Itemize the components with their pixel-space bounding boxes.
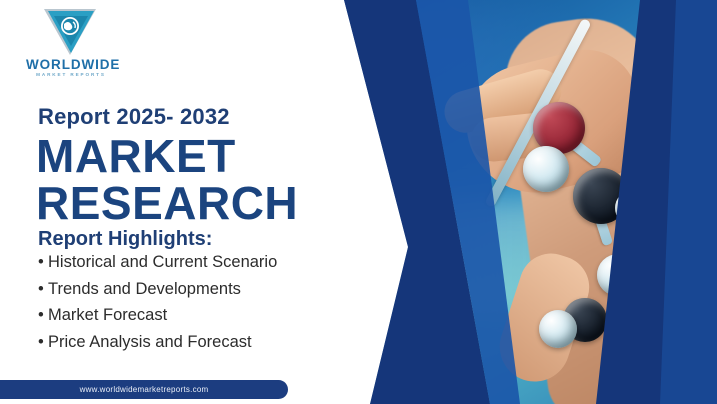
molecule-atom-pale (539, 310, 577, 348)
molecule-atom-pale (663, 230, 697, 264)
molecule-atom-pale (615, 190, 651, 226)
list-item-label: Price Analysis and Forecast (48, 333, 252, 351)
bullet-dot-icon: • (38, 281, 48, 298)
page-title-line-2: RESEARCH (36, 180, 298, 226)
globe-shield-icon (40, 6, 100, 58)
list-item-label: Trends and Developments (48, 280, 241, 298)
list-item-label: Market Forecast (48, 306, 167, 324)
list-item-label: Historical and Current Scenario (48, 253, 277, 271)
list-item: •Market Forecast (38, 307, 277, 324)
market-research-banner: WORLDWIDE MARKET REPORTS Report 2025- 20… (0, 0, 717, 404)
website-url-bar[interactable]: www.worldwidemarketreports.com (0, 380, 288, 399)
molecule-atom-pale (523, 146, 569, 192)
highlights-list: •Historical and Current Scenario •Trends… (38, 254, 277, 360)
list-item: •Price Analysis and Forecast (38, 334, 277, 351)
report-period-label: Report 2025- 2032 (38, 104, 230, 130)
content-panel: WORLDWIDE MARKET REPORTS Report 2025- 20… (0, 0, 360, 404)
company-logo[interactable]: WORLDWIDE MARKET REPORTS (26, 6, 116, 84)
bullet-dot-icon: • (38, 334, 48, 351)
page-title-line-1: MARKET (36, 133, 236, 179)
bullet-dot-icon: • (38, 307, 48, 324)
highlights-heading: Report Highlights: (38, 228, 212, 251)
logo-wordmark: WORLDWIDE (26, 58, 116, 72)
logo-tagline: MARKET REPORTS (26, 73, 116, 78)
list-item: •Trends and Developments (38, 281, 277, 298)
hero-artwork (317, 0, 717, 404)
molecule-model (505, 84, 715, 344)
bullet-dot-icon: • (38, 254, 48, 271)
molecule-atom-pale (597, 254, 639, 296)
website-url-label: www.worldwidemarketreports.com (80, 385, 209, 394)
list-item: •Historical and Current Scenario (38, 254, 277, 271)
